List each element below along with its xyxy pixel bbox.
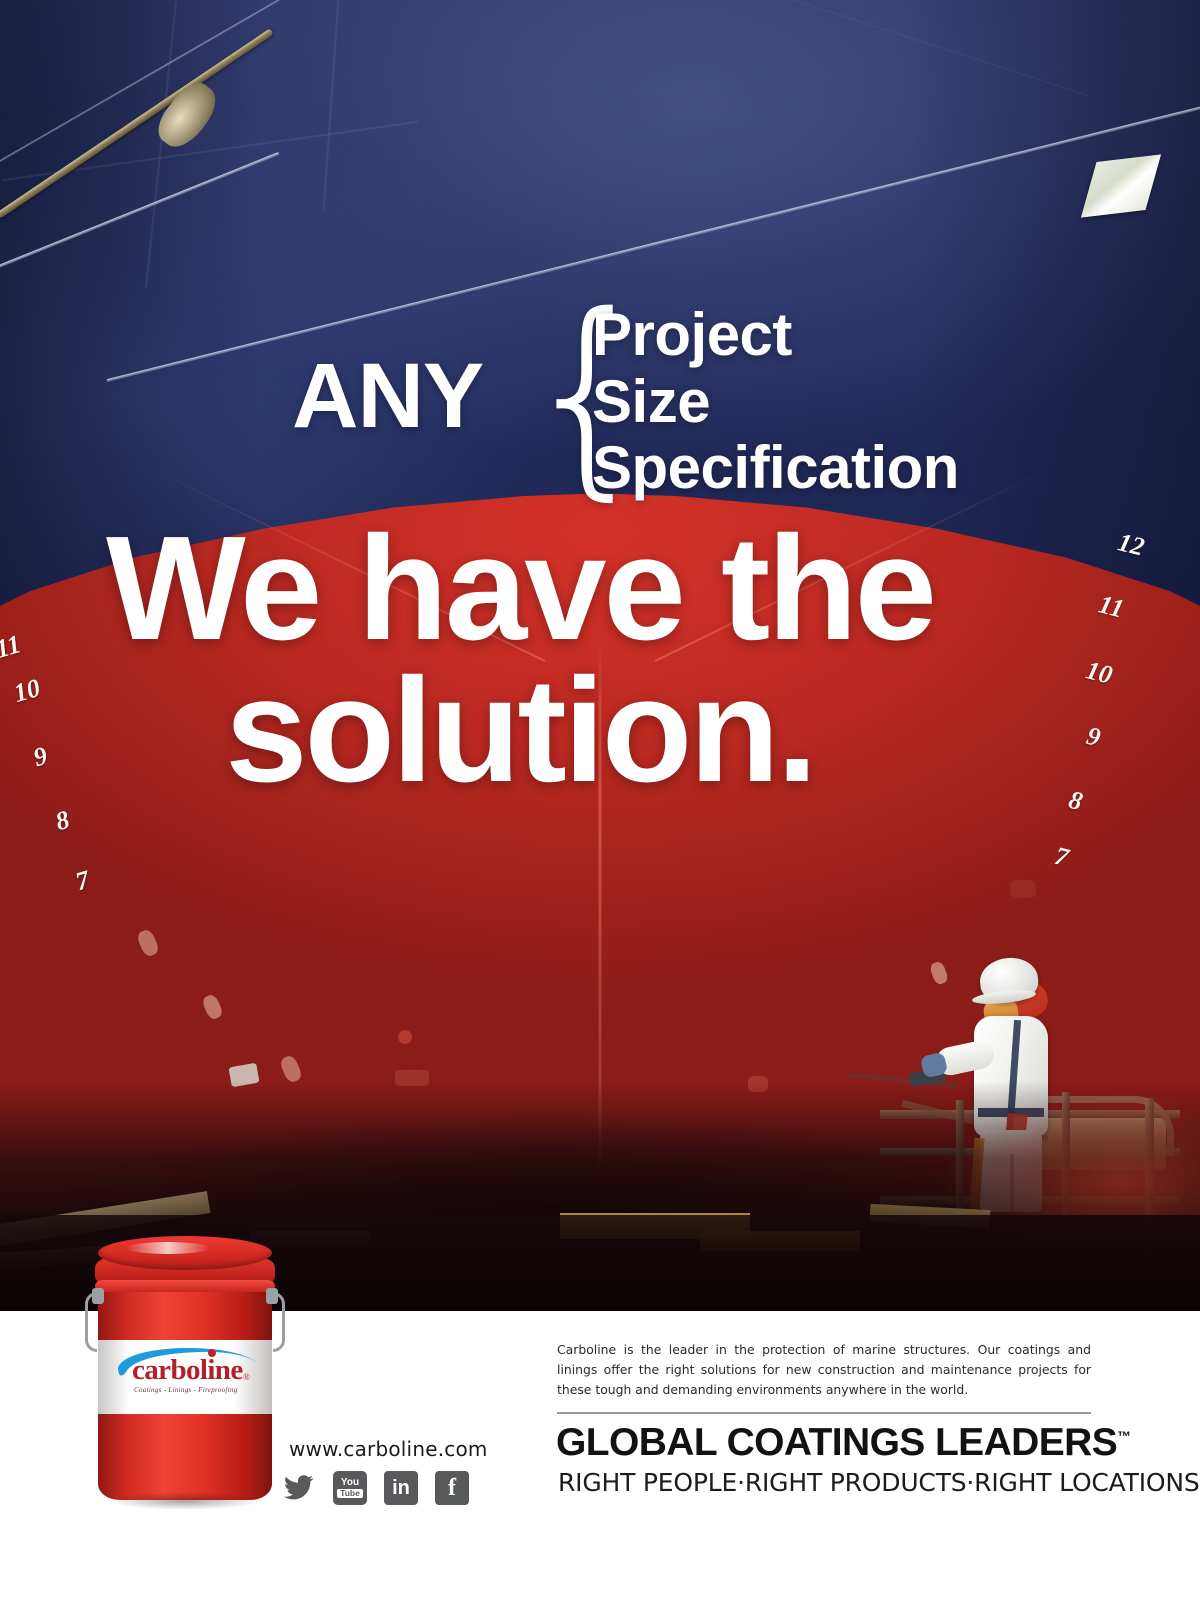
- hero-photo: 10 9 8 7 11 12 11 10 9 8 7: [0, 0, 1200, 1311]
- bucket-rim-ring: [95, 1280, 275, 1292]
- bucket-handle: [273, 1292, 285, 1352]
- tagline-main: GLOBAL COATINGS LEADERS™: [556, 1423, 1131, 1462]
- bucket-label: carboline ® Coatings - Linings - Firepro…: [98, 1340, 272, 1414]
- carboline-wordmark: carboline: [132, 1356, 243, 1385]
- facebook-label: f: [448, 1475, 456, 1502]
- registered-mark: ®: [243, 1372, 250, 1382]
- bucket-shadow: [108, 1492, 262, 1510]
- trademark-mark: ™: [1117, 1428, 1131, 1444]
- facebook-icon[interactable]: f: [435, 1471, 469, 1505]
- carboline-logo: carboline ® Coatings - Linings - Firepro…: [112, 1346, 260, 1390]
- youtube-icon[interactable]: You Tube: [333, 1471, 367, 1505]
- website-url[interactable]: www.carboline.com: [289, 1437, 488, 1461]
- youtube-label-top: You: [341, 1478, 359, 1488]
- paint-bucket: carboline ® Coatings - Linings - Firepro…: [86, 1236, 284, 1526]
- twitter-bird-glyph: [284, 1475, 314, 1501]
- carboline-logo-tagline: Coatings - Linings - Fireproofing: [134, 1386, 238, 1394]
- bucket-handle: [85, 1292, 97, 1352]
- advertisement: 10 9 8 7 11 12 11 10 9 8 7: [0, 0, 1200, 1606]
- youtube-label-bottom: Tube: [337, 1489, 363, 1499]
- linkedin-label: in: [392, 1477, 410, 1500]
- linkedin-icon[interactable]: in: [384, 1471, 418, 1505]
- divider-rule: [557, 1412, 1091, 1414]
- twitter-icon[interactable]: [282, 1471, 316, 1505]
- marketing-blurb: Carboline is the leader in the protectio…: [557, 1340, 1091, 1400]
- tagline-main-text: GLOBAL COATINGS LEADERS: [556, 1421, 1117, 1464]
- footer: carboline ® Coatings - Linings - Firepro…: [0, 1311, 1200, 1606]
- bucket-lid-highlight: [126, 1242, 210, 1254]
- hull-blemish: [1010, 880, 1036, 898]
- social-links: You Tube in f: [282, 1471, 469, 1505]
- tagline-sub: RIGHT PEOPLE·RIGHT PRODUCTS·RIGHT LOCATI…: [558, 1468, 1200, 1497]
